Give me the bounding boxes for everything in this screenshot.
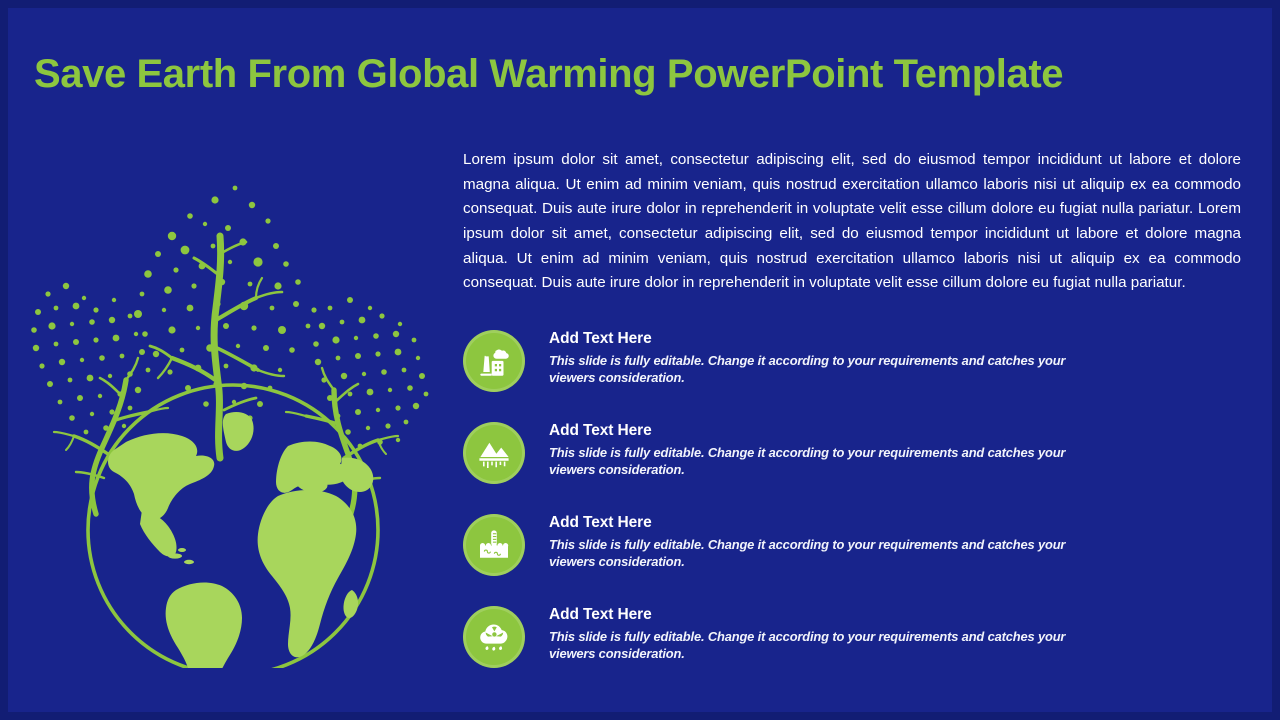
list-item-text: Add Text Here This slide is fully editab… (549, 324, 1069, 387)
list-item[interactable]: Add Text Here This slide is fully editab… (463, 416, 1248, 508)
list-item-description: This slide is fully editable. Change it … (549, 536, 1069, 571)
list-item-text: Add Text Here This slide is fully editab… (549, 416, 1069, 479)
bullet-list: Add Text Here This slide is fully editab… (463, 324, 1248, 692)
list-item-text: Add Text Here This slide is fully editab… (549, 508, 1069, 571)
list-item[interactable]: Add Text Here This slide is fully editab… (463, 600, 1248, 692)
list-item[interactable]: Add Text Here This slide is fully editab… (463, 324, 1248, 416)
tree-foliage-dots-right (313, 297, 428, 448)
list-item[interactable]: Add Text Here This slide is fully editab… (463, 508, 1248, 600)
green-earth-illustration (30, 158, 430, 668)
list-item-heading: Add Text Here (549, 330, 1069, 348)
list-item-description: This slide is fully editable. Change it … (549, 628, 1069, 663)
tree-foliage-dots-left (31, 283, 150, 435)
list-item-text: Add Text Here This slide is fully editab… (549, 600, 1069, 663)
list-item-description: This slide is fully editable. Change it … (549, 352, 1069, 387)
globe-icon (88, 385, 378, 668)
list-item-heading: Add Text Here (549, 606, 1069, 624)
acid-rain-cloud-icon[interactable] (463, 606, 525, 668)
list-item-heading: Add Text Here (549, 514, 1069, 532)
content-column: Lorem ipsum dolor sit amet, consectetur … (463, 148, 1248, 692)
rising-sea-temperature-icon[interactable] (463, 514, 525, 576)
list-item-description: This slide is fully editable. Change it … (549, 444, 1069, 479)
list-item-heading: Add Text Here (549, 422, 1069, 440)
body-paragraph: Lorem ipsum dolor sit amet, consectetur … (463, 148, 1241, 296)
power-plant-smokestack-icon[interactable] (463, 330, 525, 392)
melting-glacier-icon[interactable] (463, 422, 525, 484)
page-title: Save Earth From Global Warming PowerPoin… (34, 52, 1214, 96)
presentation-slide: Save Earth From Global Warming PowerPoin… (0, 0, 1280, 720)
